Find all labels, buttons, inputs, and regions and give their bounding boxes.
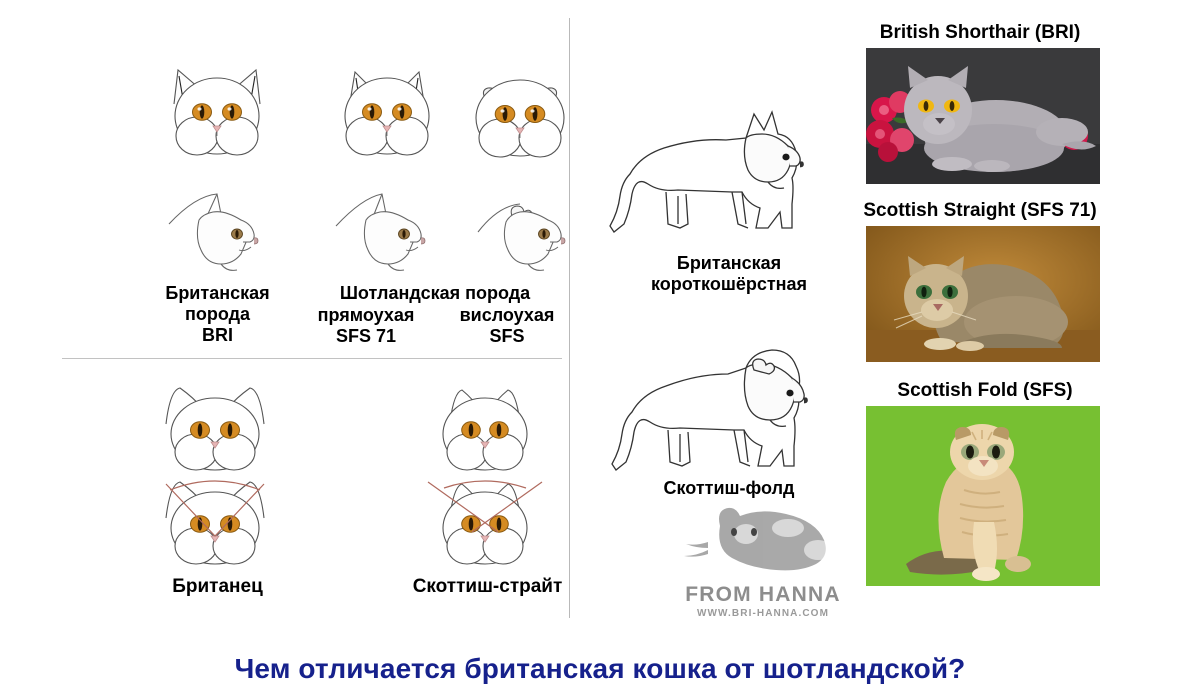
watermark-cat-icon xyxy=(668,502,858,578)
label-britanets-text: Британец xyxy=(130,576,305,598)
label-scottish-fold-body: Скоттиш-фолд xyxy=(598,478,860,499)
label-british-line2: порода xyxy=(130,304,305,325)
label-scottish-line1: Шотландская порода xyxy=(300,283,570,304)
watermark-title: FROM HANNA xyxy=(668,583,858,607)
label-scottish-breed-title: Шотландская порода xyxy=(300,283,570,304)
watermark-from-hanna: FROM HANNA WWW.BRI-HANNA.COM xyxy=(668,502,858,619)
photo-scottish-fold xyxy=(866,406,1100,586)
horizontal-divider-left-panel xyxy=(62,358,562,359)
label-scottish-straight-bottom: Скоттиш-страйт xyxy=(390,576,585,598)
label-british-line3: BRI xyxy=(130,325,305,346)
label-scottish-fold-line3: SFS xyxy=(437,326,577,347)
scottish-straight-head-profile xyxy=(322,192,442,277)
label-scottish-fold-line2: вислоухая xyxy=(437,305,577,326)
british-head-profile xyxy=(155,192,275,277)
infographic-page: Британская порода BRI Шотландская порода… xyxy=(0,0,1200,699)
scottish-straight-face-plain xyxy=(420,378,550,478)
photo-caption-british-text: British Shorthair (BRI) xyxy=(880,22,1081,43)
label-british-shorthair-line2: короткошёрстная xyxy=(598,274,860,295)
photo-caption-scottish-straight: Scottish Straight (SFS 71) xyxy=(840,200,1120,222)
scottish-fold-head-profile xyxy=(462,192,582,277)
photo-caption-scottish-fold: Scottish Fold (SFS) xyxy=(860,380,1110,402)
page-headline: Чем отличается британская кошка от шотла… xyxy=(0,653,1200,685)
page-headline-text: Чем отличается британская кошка от шотла… xyxy=(235,653,966,684)
photo-caption-british-shorthair: British Shorthair (BRI) xyxy=(855,22,1105,44)
label-scottish-fold-body-line1: Скоттиш-фолд xyxy=(598,478,860,499)
photo-caption-scottish-fold-text: Scottish Fold (SFS) xyxy=(897,380,1072,401)
scottish-straight-face-front xyxy=(322,56,452,166)
british-face-front xyxy=(152,56,282,166)
label-scottish-straight-bottom-text: Скоттиш-страйт xyxy=(390,576,585,598)
label-british-breed: Британская порода BRI xyxy=(130,283,305,347)
label-scottish-straight: прямоухая SFS 71 xyxy=(296,305,436,347)
british-shorthair-body-drawing xyxy=(596,100,831,240)
watermark-url: WWW.BRI-HANNA.COM xyxy=(668,608,858,619)
photo-british-shorthair xyxy=(866,48,1100,184)
label-scottish-fold: вислоухая SFS xyxy=(437,305,577,347)
scottish-fold-face-front xyxy=(455,60,585,168)
britanets-face-plain xyxy=(150,378,280,478)
label-scottish-straight-line3: SFS 71 xyxy=(296,326,436,347)
label-british-shorthair-body: Британская короткошёрстная xyxy=(598,253,860,295)
britanets-face-with-triangle-overlay xyxy=(150,468,280,573)
label-britanets: Британец xyxy=(130,576,305,598)
photo-scottish-straight xyxy=(866,226,1100,362)
scottish-straight-face-with-triangle-overlay xyxy=(420,468,550,573)
label-british-line1: Британская xyxy=(130,283,305,304)
photo-caption-scottish-straight-text: Scottish Straight (SFS 71) xyxy=(863,200,1096,221)
scottish-fold-body-drawing xyxy=(596,340,831,480)
label-british-shorthair-line1: Британская xyxy=(598,253,860,274)
label-scottish-straight-line2: прямоухая xyxy=(296,305,436,326)
